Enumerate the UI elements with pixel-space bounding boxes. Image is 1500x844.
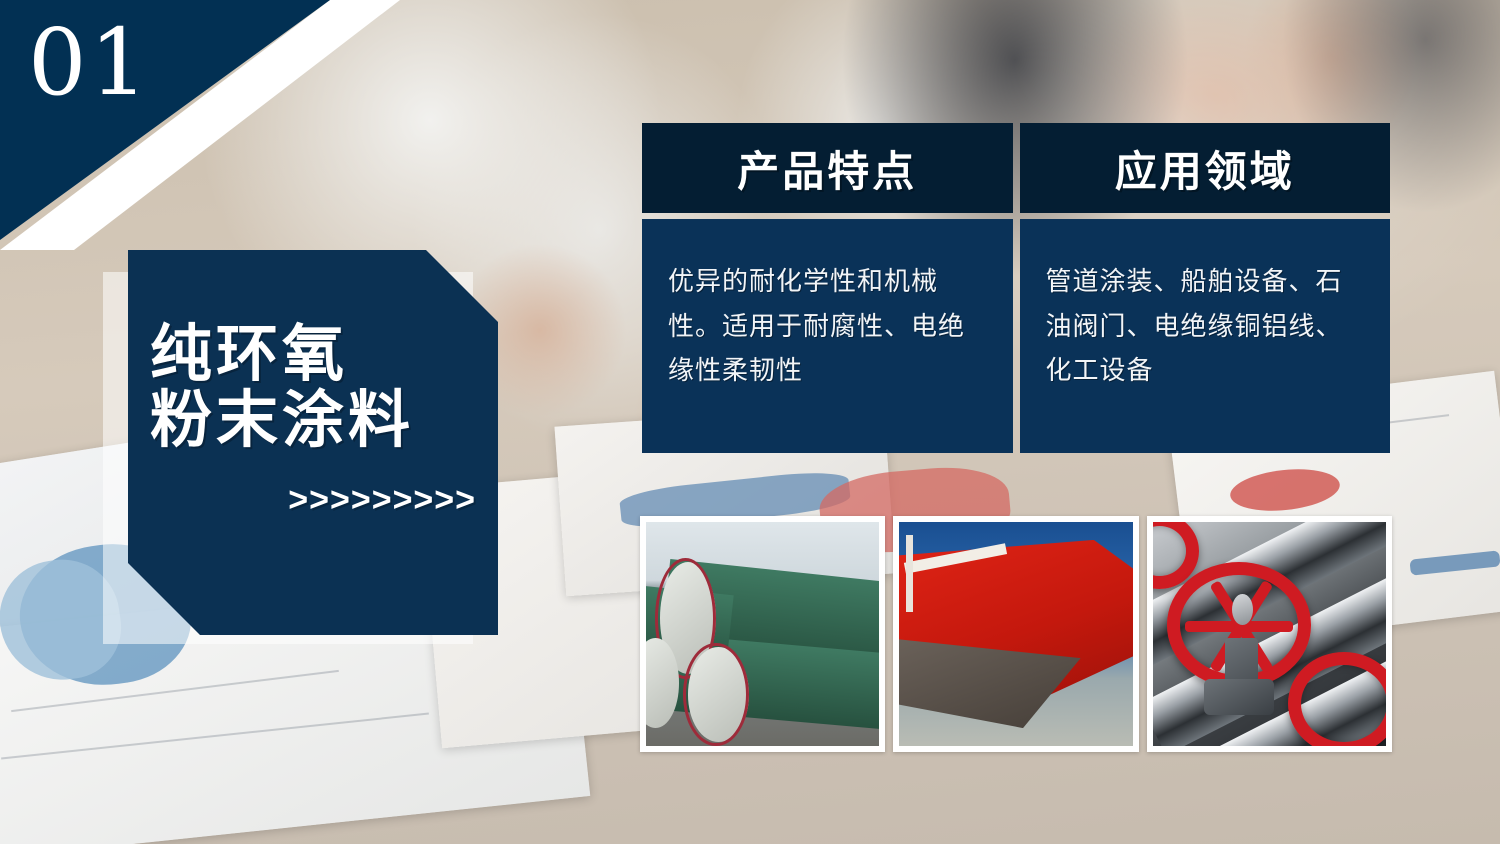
photo-image-ship — [899, 522, 1132, 746]
title-line-2: 粉末涂料 — [128, 388, 498, 454]
photo-ship-hull — [893, 516, 1138, 752]
panel-body-application-fields: 管道涂装、船舶设备、石油阀门、电绝缘铜铝线、化工设备 — [1020, 219, 1391, 453]
panel-product-features: 产品特点 优异的耐化学性和机械性。适用于耐腐性、电绝缘性柔韧性 — [642, 123, 1013, 453]
chevron-arrows-icon: >>>>>>>>> — [128, 481, 498, 520]
slide-canvas: 01 纯环氧 粉末涂料 >>>>>>>>> 产品特点 优异的耐化学性和机械性。适… — [0, 0, 1500, 844]
panel-body-text: 管道涂装、船舶设备、石油阀门、电绝缘铜铝线、化工设备 — [1046, 259, 1365, 393]
panel-heading-label: 产品特点 — [737, 138, 917, 199]
panel-body-product-features: 优异的耐化学性和机械性。适用于耐腐性、电绝缘性柔韧性 — [642, 219, 1013, 453]
section-number: 01 — [28, 17, 151, 109]
panel-header-product-features: 产品特点 — [642, 123, 1013, 213]
panel-application-fields: 应用领域 管道涂装、船舶设备、石油阀门、电绝缘铜铝线、化工设备 — [1020, 123, 1391, 453]
photo-strip — [640, 516, 1392, 752]
info-panels: 产品特点 优异的耐化学性和机械性。适用于耐腐性、电绝缘性柔韧性 应用领域 管道涂… — [642, 123, 1390, 453]
photo-coated-pipes — [640, 516, 885, 752]
panel-heading-label: 应用领域 — [1115, 138, 1295, 199]
panel-body-text: 优异的耐化学性和机械性。适用于耐腐性、电绝缘性柔韧性 — [668, 259, 987, 393]
photo-valve-wheels — [1147, 516, 1392, 752]
title-line-1: 纯环氧 — [128, 322, 498, 388]
title-card: 纯环氧 粉末涂料 >>>>>>>>> — [128, 250, 498, 635]
photo-image-pipes — [646, 522, 879, 746]
photo-image-valves — [1153, 522, 1386, 746]
panel-header-application-fields: 应用领域 — [1020, 123, 1391, 213]
